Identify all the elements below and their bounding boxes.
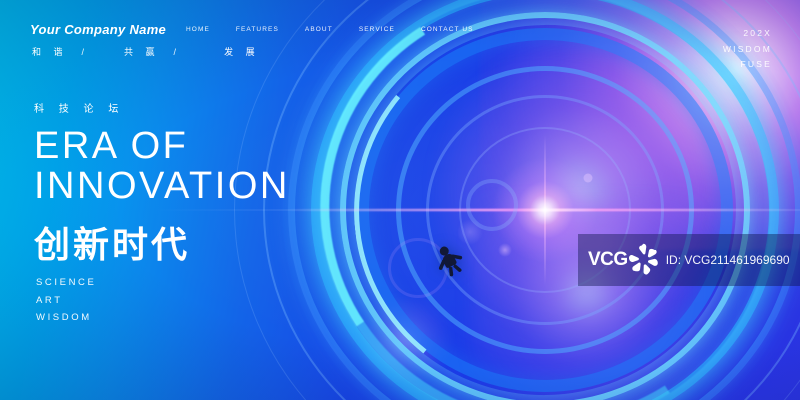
nav-item-contact-us[interactable]: CONTACT US (421, 26, 474, 33)
site-header: Your Company Name HOME FEATURES ABOUT SE… (0, 0, 800, 70)
hero-copy: 科 技 论 坛 ERA OF INNOVATION 创新时代 (34, 100, 290, 268)
keyword-science: SCIENCE (36, 274, 96, 292)
hero-title-cn: 创新时代 (34, 216, 290, 268)
poster-canvas: Your Company Name HOME FEATURES ABOUT SE… (0, 0, 800, 400)
keyword-art: ART (36, 292, 96, 310)
brand-name[interactable]: Your Company Name (30, 22, 166, 37)
slogan-item-harmony[interactable]: 和 谐 (32, 45, 68, 58)
corner-stamp: 202X WISDOM FUSE (723, 26, 772, 73)
main-nav: HOME FEATURES ABOUT SERVICE CONTACT US (186, 26, 474, 33)
slogan-separator-2: / (160, 47, 191, 57)
hero-keyword-list: SCIENCE ART WISDOM (36, 274, 96, 327)
slogan-bar: 和 谐 / 共 赢 / 发 展 (32, 45, 260, 58)
stamp-line-fuse: FUSE (723, 57, 772, 73)
vcg-pinwheel-icon (624, 240, 664, 280)
vcg-id-text: ID: VCG211461969690 (666, 253, 790, 267)
slogan-separator-1: / (68, 47, 99, 57)
nav-item-features[interactable]: FEATURES (236, 26, 279, 33)
keyword-wisdom: WISDOM (36, 309, 96, 327)
vcg-wordmark: VCG (588, 249, 628, 271)
vcg-watermark: VCG ID: VCG211461969690 (578, 234, 800, 286)
stamp-line-wisdom: WISDOM (723, 42, 772, 58)
nav-item-about[interactable]: ABOUT (305, 26, 333, 33)
nav-item-home[interactable]: HOME (186, 26, 210, 33)
floating-person-silhouette-icon (432, 243, 466, 277)
stamp-year: 202X (723, 26, 772, 42)
nav-item-service[interactable]: SERVICE (359, 26, 395, 33)
bottom-bar: 全国统一服务热线: 88888888888 标题文字标题文字标题文字 此处输入内… (0, 340, 800, 400)
hero-title-en-line2: INNOVATION (34, 167, 290, 207)
slogan-item-winwin[interactable]: 共 赢 (124, 45, 160, 58)
hero-eyebrow: 科 技 论 坛 (34, 100, 290, 115)
slogan-item-development[interactable]: 发 展 (224, 45, 260, 58)
hero-title-en-line1: ERA OF (34, 127, 290, 167)
